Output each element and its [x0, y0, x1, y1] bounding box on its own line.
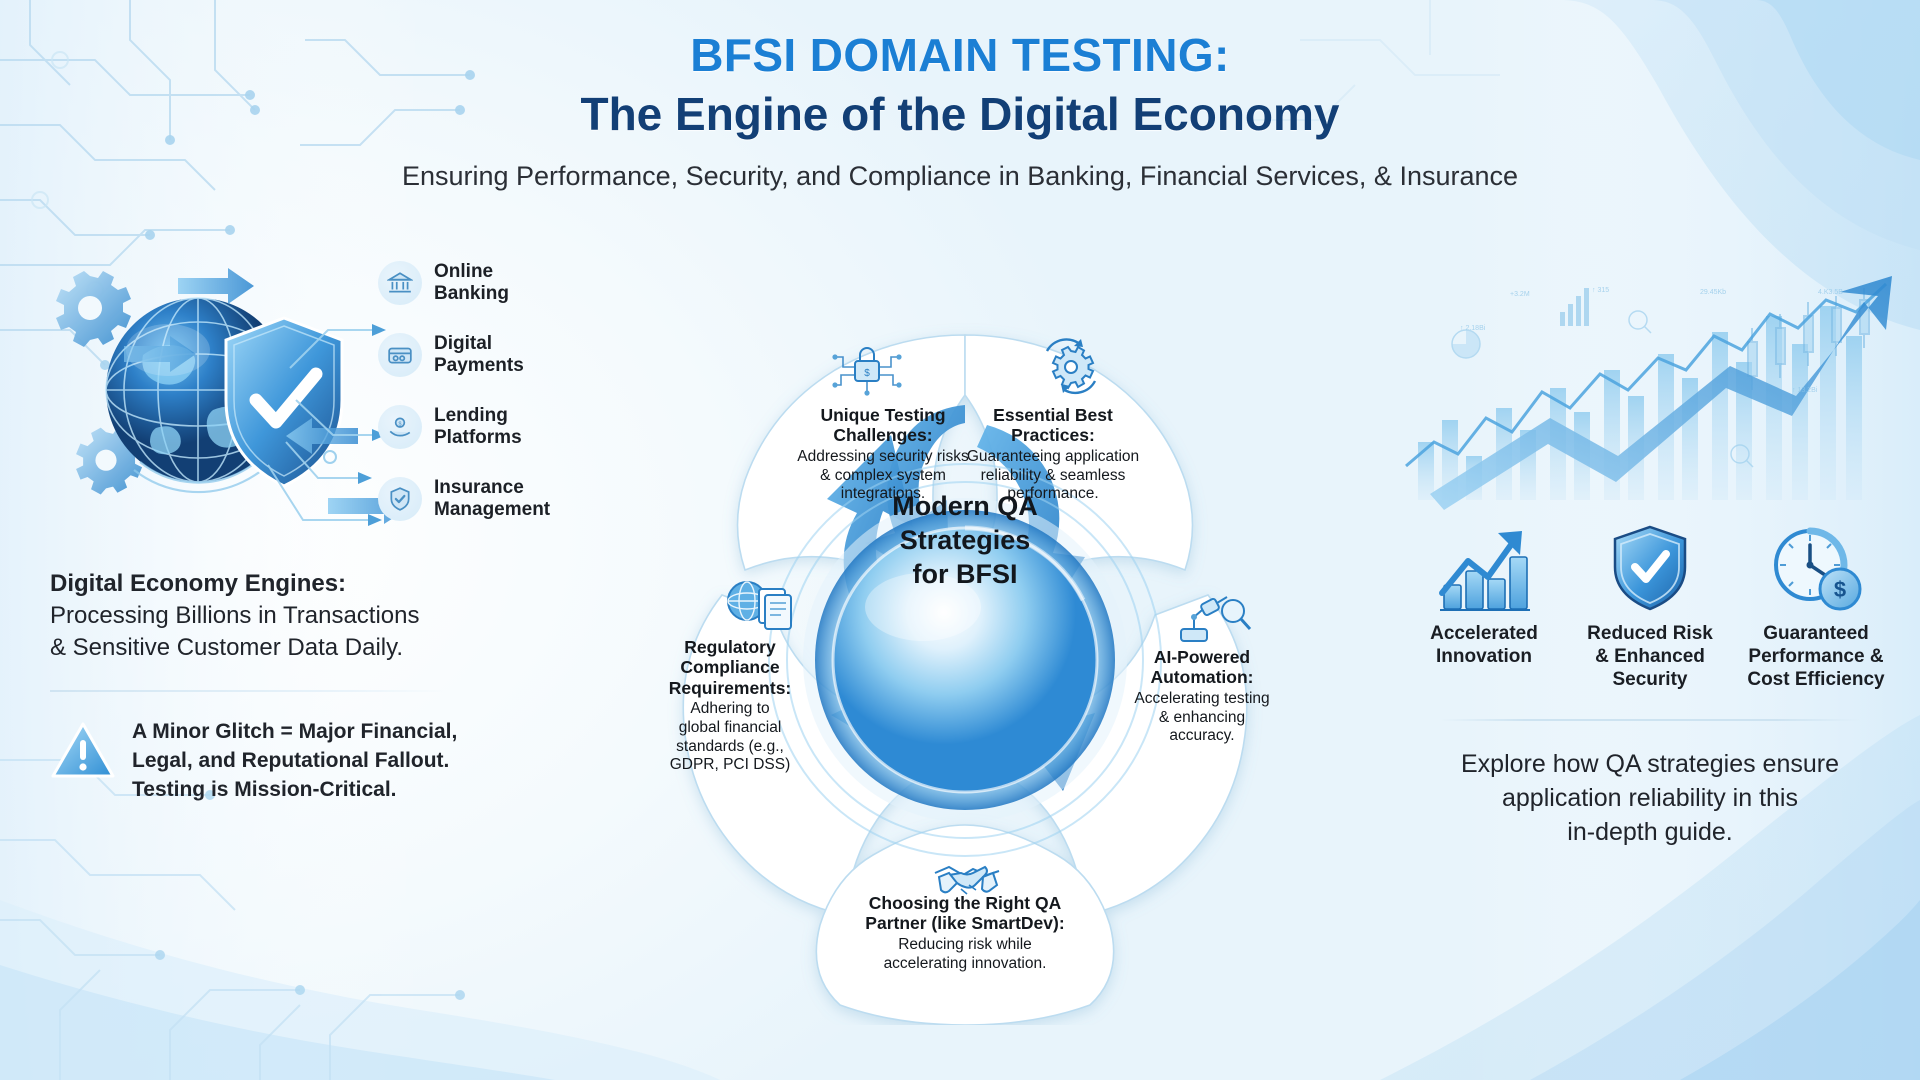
benefit-accelerated-innovation: Accelerated Innovation: [1406, 521, 1562, 691]
growth-chart-graphic: +3.2M ↑ 315 29.45Kb 4.K3.5B ↑ 2.18Bi ↑ 1…: [1400, 270, 1900, 515]
right-divider: [1440, 719, 1860, 721]
svg-text:$: $: [398, 421, 401, 427]
globe-illustration: Online Banking Digital Payments: [28, 250, 608, 550]
feature-label: Lending Platforms: [434, 405, 522, 450]
feature-list: Online Banking Digital Payments: [378, 260, 618, 548]
page-title-main: BFSI DOMAIN TESTING:: [0, 30, 1920, 81]
svg-text:29.45Kb: 29.45Kb: [1700, 289, 1726, 296]
cta-text: Explore how QA strategies ensure applica…: [1400, 747, 1900, 849]
petal-left: Regulatory Compliance Requirements: Adhe…: [645, 637, 815, 775]
shield-check-icon: [378, 477, 422, 521]
feature-label: Digital Payments: [434, 333, 524, 378]
petal-desc: Accelerating testing & enhancing accurac…: [1118, 690, 1286, 746]
left-headline: Digital Economy Engines: Processing Bill…: [28, 568, 608, 664]
svg-text:↑ 13.2Bi: ↑ 13.2Bi: [1792, 387, 1818, 394]
petal-desc: Reducing risk while accelerating innovat…: [795, 936, 1135, 973]
feature-item-lending-platforms: $ Lending Platforms: [378, 404, 618, 450]
feature-item-insurance-management: Insurance Management: [378, 476, 618, 522]
left-headline-rest: Processing Billions in Transactions & Se…: [50, 602, 420, 661]
feature-label: Insurance Management: [434, 477, 550, 522]
clock-dollar-icon: $: [1738, 521, 1894, 613]
warning-triangle-icon: [50, 720, 116, 787]
svg-text:+3.2M: +3.2M: [1510, 291, 1530, 298]
shield-check-icon: [1572, 521, 1728, 613]
svg-text:↑ 315: ↑ 315: [1592, 287, 1609, 294]
petal-top-right: Essential Best Practices: Guaranteeing a…: [953, 405, 1153, 504]
right-panel: +3.2M ↑ 315 29.45Kb 4.K3.5B ↑ 2.18Bi ↑ 1…: [1400, 270, 1900, 849]
growth-chart-arrow-icon: [1406, 521, 1562, 613]
documents-globe-icon: [723, 575, 799, 642]
wheel-hub-label: Modern QA Strategies for BFSI: [840, 490, 1090, 591]
petal-title: Regulatory Compliance Requirements:: [645, 637, 815, 698]
feature-item-online-banking: Online Banking: [378, 260, 618, 306]
benefit-guaranteed-performance: $ Guaranteed Performance & Cost Efficien…: [1738, 521, 1894, 691]
benefit-label: Reduced Risk & Enhanced Security: [1572, 623, 1728, 691]
warning-block: A Minor Glitch = Major Financial, Legal,…: [50, 718, 608, 805]
left-panel: Online Banking Digital Payments: [28, 250, 608, 805]
qa-strategy-wheel: Modern QA Strategies for BFSI $: [595, 295, 1335, 1025]
bank-icon: [378, 261, 422, 305]
svg-text:4.K3.5B: 4.K3.5B: [1818, 289, 1843, 296]
svg-text:$: $: [1834, 577, 1846, 602]
financial-chart-illustration: +3.2M ↑ 315 29.45Kb 4.K3.5B ↑ 2.18Bi ↑ 1…: [1400, 270, 1900, 515]
benefit-reduced-risk: Reduced Risk & Enhanced Security: [1572, 521, 1728, 691]
petal-title: AI-Powered Automation:: [1118, 647, 1286, 688]
petal-title: Choosing the Right QA Partner (like Smar…: [795, 893, 1135, 934]
page-title-sub: The Engine of the Digital Economy: [0, 86, 1920, 144]
gear-refresh-icon: [1035, 335, 1107, 402]
infographic-canvas: BFSI DOMAIN TESTING: The Engine of the D…: [0, 0, 1920, 1080]
page-subtitle: Ensuring Performance, Security, and Comp…: [0, 159, 1920, 195]
warning-text: A Minor Glitch = Major Financial, Legal,…: [132, 718, 457, 805]
petal-bottom: Choosing the Right QA Partner (like Smar…: [795, 893, 1135, 973]
robot-arm-magnifier-icon: [1175, 585, 1255, 652]
header: BFSI DOMAIN TESTING: The Engine of the D…: [0, 30, 1920, 195]
feature-label: Online Banking: [434, 261, 509, 306]
svg-text:$: $: [864, 368, 870, 379]
left-headline-bold: Digital Economy Engines:: [50, 568, 608, 600]
benefit-label: Accelerated Innovation: [1406, 623, 1562, 669]
petal-title: Essential Best Practices:: [953, 405, 1153, 446]
benefit-label: Guaranteed Performance & Cost Efficiency: [1738, 623, 1894, 691]
credit-card-icon: [378, 333, 422, 377]
petal-desc: Adhering to global financial standards (…: [645, 700, 815, 774]
petal-right: AI-Powered Automation: Accelerating test…: [1118, 647, 1286, 746]
lock-circuit-icon: $: [831, 335, 903, 402]
benefits-row: Accelerated Innovation: [1400, 521, 1900, 691]
feature-item-digital-payments: Digital Payments: [378, 332, 618, 378]
left-divider: [50, 690, 450, 692]
hand-coin-icon: $: [378, 405, 422, 449]
